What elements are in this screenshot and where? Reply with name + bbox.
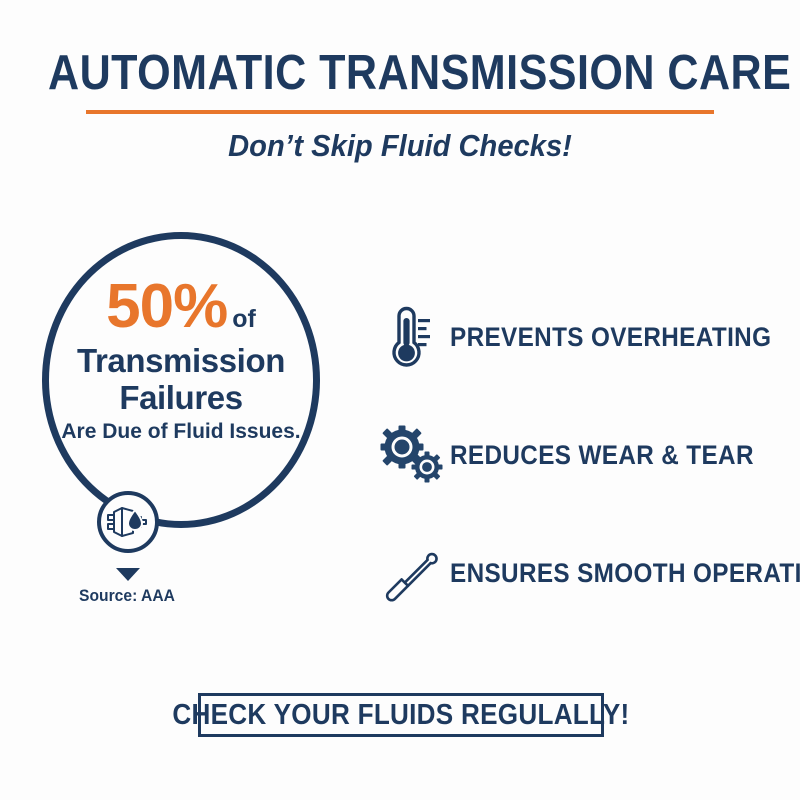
title-divider	[86, 110, 714, 114]
page-title: AUTOMATIC TRANSMISSION CARE	[48, 46, 752, 100]
thermometer-icon	[372, 298, 450, 376]
stat-line-detail: Are Due of Fluid Issues.	[42, 419, 320, 444]
cta-banner: CHECK YOUR FLUIDS REGULALLY!	[198, 693, 604, 737]
benefit-item-reduces-wear-and-tear: REDUCES WEAR & TEAR	[372, 396, 782, 514]
page-subtitle: Don’t Skip Fluid Checks!	[24, 128, 776, 164]
stat-percent-suffix: of	[232, 305, 256, 333]
cta-text: CHECK YOUR FLUIDS REGULALLY!	[172, 699, 629, 732]
dipstick-icon	[372, 534, 450, 612]
header: AUTOMATIC TRANSMISSION CARE Don’t Skip F…	[0, 46, 800, 164]
source-label: Source: AAA	[49, 586, 205, 606]
benefit-item-prevents-overheating: PREVENTS OVERHEATING	[372, 278, 782, 396]
stat-text-group: 50%of Transmission Failures Are Due of F…	[42, 276, 320, 444]
benefit-item-ensures-smooth-operation: ENSURES SMOOTH OPERATION	[372, 514, 782, 632]
stat-block: 50%of Transmission Failures Are Due of F…	[42, 232, 334, 632]
stat-line-transmission: Transmission	[42, 342, 320, 379]
stat-percent-value: 50%	[106, 272, 227, 341]
benefit-label: ENSURES SMOOTH OPERATION	[450, 558, 800, 589]
benefit-label: PREVENTS OVERHEATING	[450, 322, 771, 353]
triangle-down-icon	[116, 568, 140, 581]
benefit-label: REDUCES WEAR & TEAR	[450, 440, 754, 471]
stat-headline: 50%of	[42, 276, 320, 338]
infographic-canvas: AUTOMATIC TRANSMISSION CARE Don’t Skip F…	[0, 0, 800, 800]
benefits-list: PREVENTS OVERHEATING	[372, 278, 782, 632]
stat-line-failures: Failures	[42, 379, 320, 416]
transmission-fluid-icon	[97, 491, 159, 553]
gears-icon	[372, 416, 450, 494]
